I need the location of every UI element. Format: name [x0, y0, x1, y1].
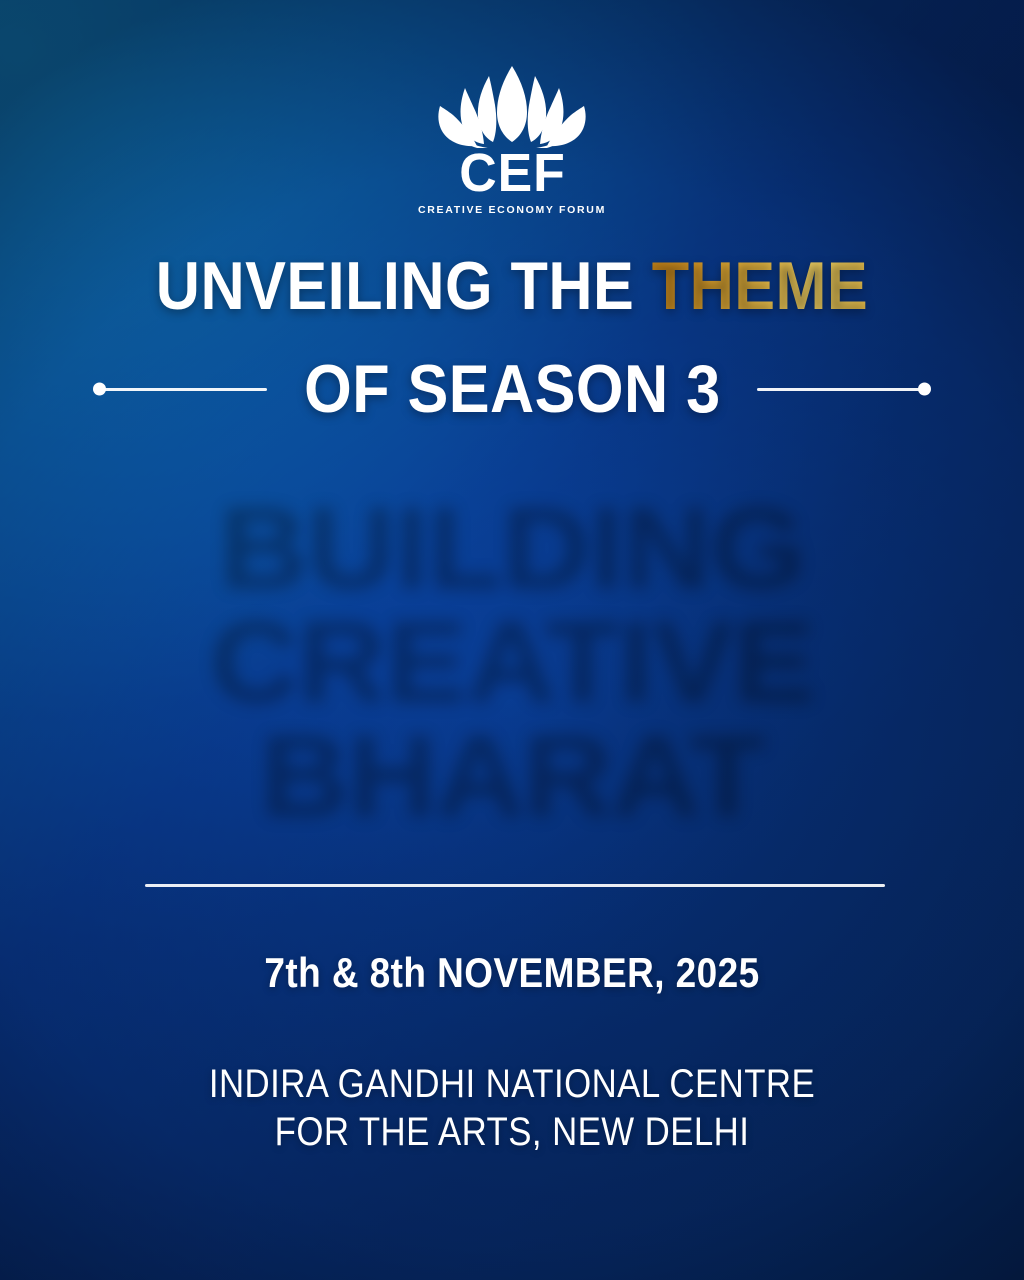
decorative-rule-left: [99, 388, 267, 391]
theme-title-line-3: BHARAT: [0, 714, 1024, 828]
theme-title: BUILDING CREATIVE BHARAT: [0, 486, 1024, 828]
headline-line-2: OF SEASON 3: [0, 355, 1024, 423]
headline-white-part: UNVEILING THE: [156, 248, 634, 324]
venue-line-2: FOR THE ARTS, NEW DELHI: [67, 1108, 958, 1156]
decorative-rule-right: [757, 388, 925, 391]
headline-gold-part: THEME: [652, 248, 868, 324]
venue-line-1: INDIRA GANDHI NATIONAL CENTRE: [67, 1060, 958, 1108]
event-poster: CEF CREATIVE ECONOMY FORUM UNVEILING THE…: [0, 0, 1024, 1280]
event-date: 7th & 8th NOVEMBER, 2025: [61, 952, 962, 994]
brand-logo: CEF CREATIVE ECONOMY FORUM: [0, 62, 1024, 216]
theme-title-line-1: BUILDING: [0, 486, 1024, 600]
section-divider: [145, 884, 885, 887]
logo-wordmark: CEF: [459, 146, 566, 200]
season-label: OF SEASON 3: [304, 355, 720, 423]
theme-title-line-2: CREATIVE: [0, 600, 1024, 714]
logo-tagline: CREATIVE ECONOMY FORUM: [418, 205, 606, 216]
lotus-icon: [427, 62, 597, 148]
headline-line-1: UNVEILING THE THEME: [51, 252, 973, 320]
event-venue: INDIRA GANDHI NATIONAL CENTRE FOR THE AR…: [67, 1060, 958, 1156]
